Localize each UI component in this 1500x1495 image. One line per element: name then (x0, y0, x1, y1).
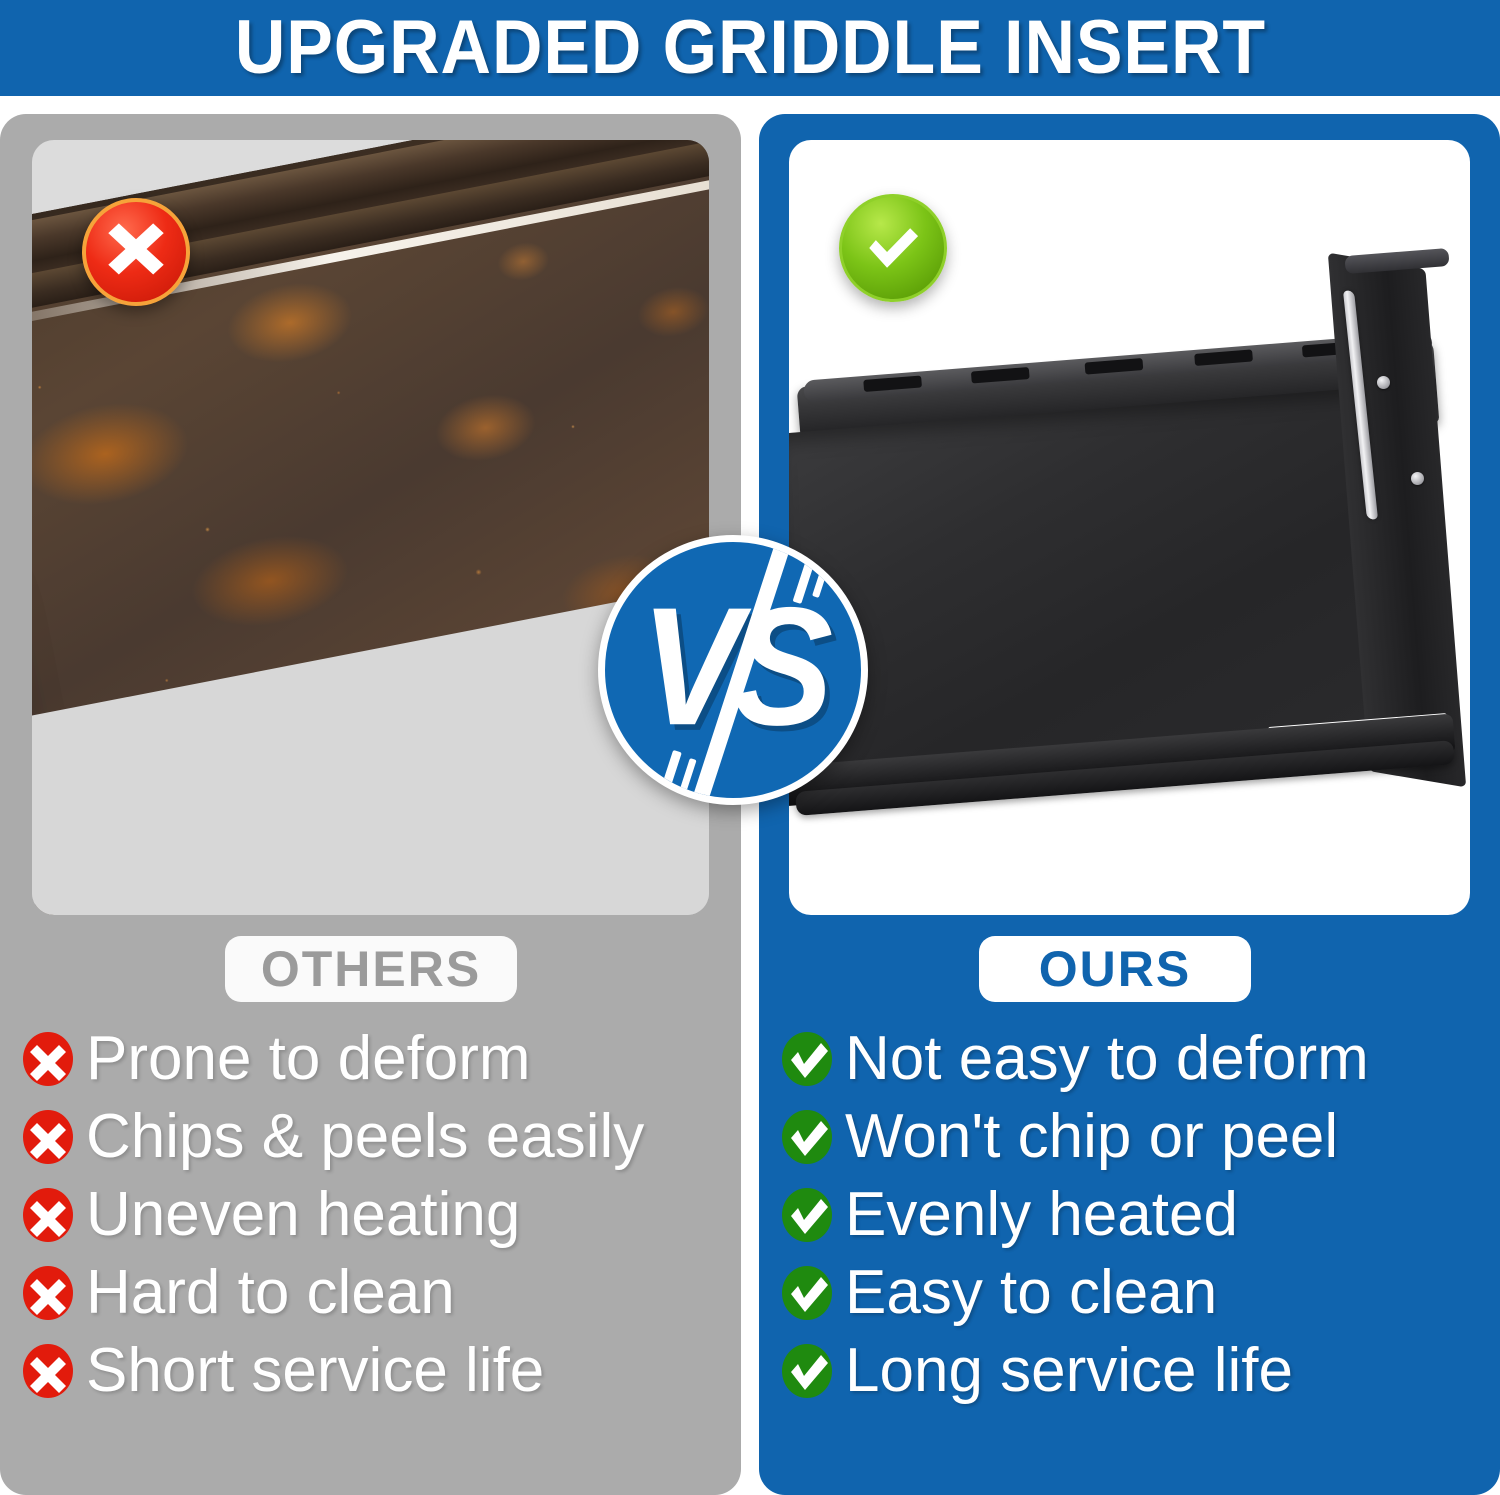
list-item-label: Short service life (86, 1340, 544, 1402)
header-banner: UPGRADED GRIDDLE INSERT (0, 0, 1500, 96)
griddle-vent-slot (1085, 358, 1144, 375)
green-check-icon (781, 1265, 833, 1321)
red-x-icon (22, 1265, 74, 1321)
list-item-label: Hard to clean (86, 1262, 455, 1324)
red-x-icon (22, 1187, 74, 1243)
green-check-icon (781, 1343, 833, 1399)
list-item: Hard to clean (22, 1254, 733, 1332)
ours-label-text: OURS (1039, 944, 1191, 994)
vs-label: VS (641, 582, 825, 750)
list-item-label: Prone to deform (86, 1028, 531, 1090)
green-check-icon (781, 1187, 833, 1243)
list-item-label: Long service life (845, 1340, 1293, 1402)
list-item-label: Chips & peels easily (86, 1106, 644, 1168)
others-panel: OTHERS Prone to deform Chips & pe (0, 114, 741, 1495)
green-check-icon (781, 1031, 833, 1087)
page-title: UPGRADED GRIDDLE INSERT (234, 10, 1265, 86)
panels-container: OTHERS Prone to deform Chips & pe (0, 104, 1500, 1495)
handle-rivet (1411, 472, 1424, 485)
others-product-photo (32, 140, 709, 915)
comparison-infographic: UPGRADED GRIDDLE INSERT (0, 0, 1500, 1495)
others-label-text: OTHERS (261, 944, 481, 994)
griddle-vent-slot (863, 375, 922, 392)
list-item: Not easy to deform (781, 1020, 1492, 1098)
list-item-label: Easy to clean (845, 1262, 1217, 1324)
list-item: Short service life (22, 1332, 733, 1410)
list-item: Prone to deform (22, 1020, 733, 1098)
list-item-label: Uneven heating (86, 1184, 520, 1246)
list-item: Won't chip or peel (781, 1098, 1492, 1176)
list-item: Uneven heating (22, 1176, 733, 1254)
list-item: Easy to clean (781, 1254, 1492, 1332)
list-item: Evenly heated (781, 1176, 1492, 1254)
list-item: Long service life (781, 1332, 1492, 1410)
green-check-icon (781, 1109, 833, 1165)
ours-panel: OURS Not easy to deform Won't chi (759, 114, 1500, 1495)
griddle-vent-slot (971, 367, 1030, 384)
green-check-badge-icon (839, 194, 947, 302)
list-item-label: Won't chip or peel (845, 1106, 1338, 1168)
list-item-label: Not easy to deform (845, 1028, 1369, 1090)
ours-label-pill: OURS (979, 936, 1251, 1002)
red-x-icon (22, 1031, 74, 1087)
others-feature-list: Prone to deform Chips & peels easily Une… (0, 1020, 741, 1410)
red-x-badge-icon (82, 198, 190, 306)
vs-badge: VS (598, 535, 868, 805)
list-item: Chips & peels easily (22, 1098, 733, 1176)
red-x-icon (22, 1343, 74, 1399)
handle-rivet (1377, 376, 1390, 389)
griddle-vent-slot (1194, 349, 1253, 366)
list-item-label: Evenly heated (845, 1184, 1238, 1246)
red-x-icon (22, 1109, 74, 1165)
ours-product-photo (789, 140, 1470, 915)
ours-feature-list: Not easy to deform Won't chip or peel Ev… (759, 1020, 1500, 1410)
others-label-pill: OTHERS (225, 936, 517, 1002)
